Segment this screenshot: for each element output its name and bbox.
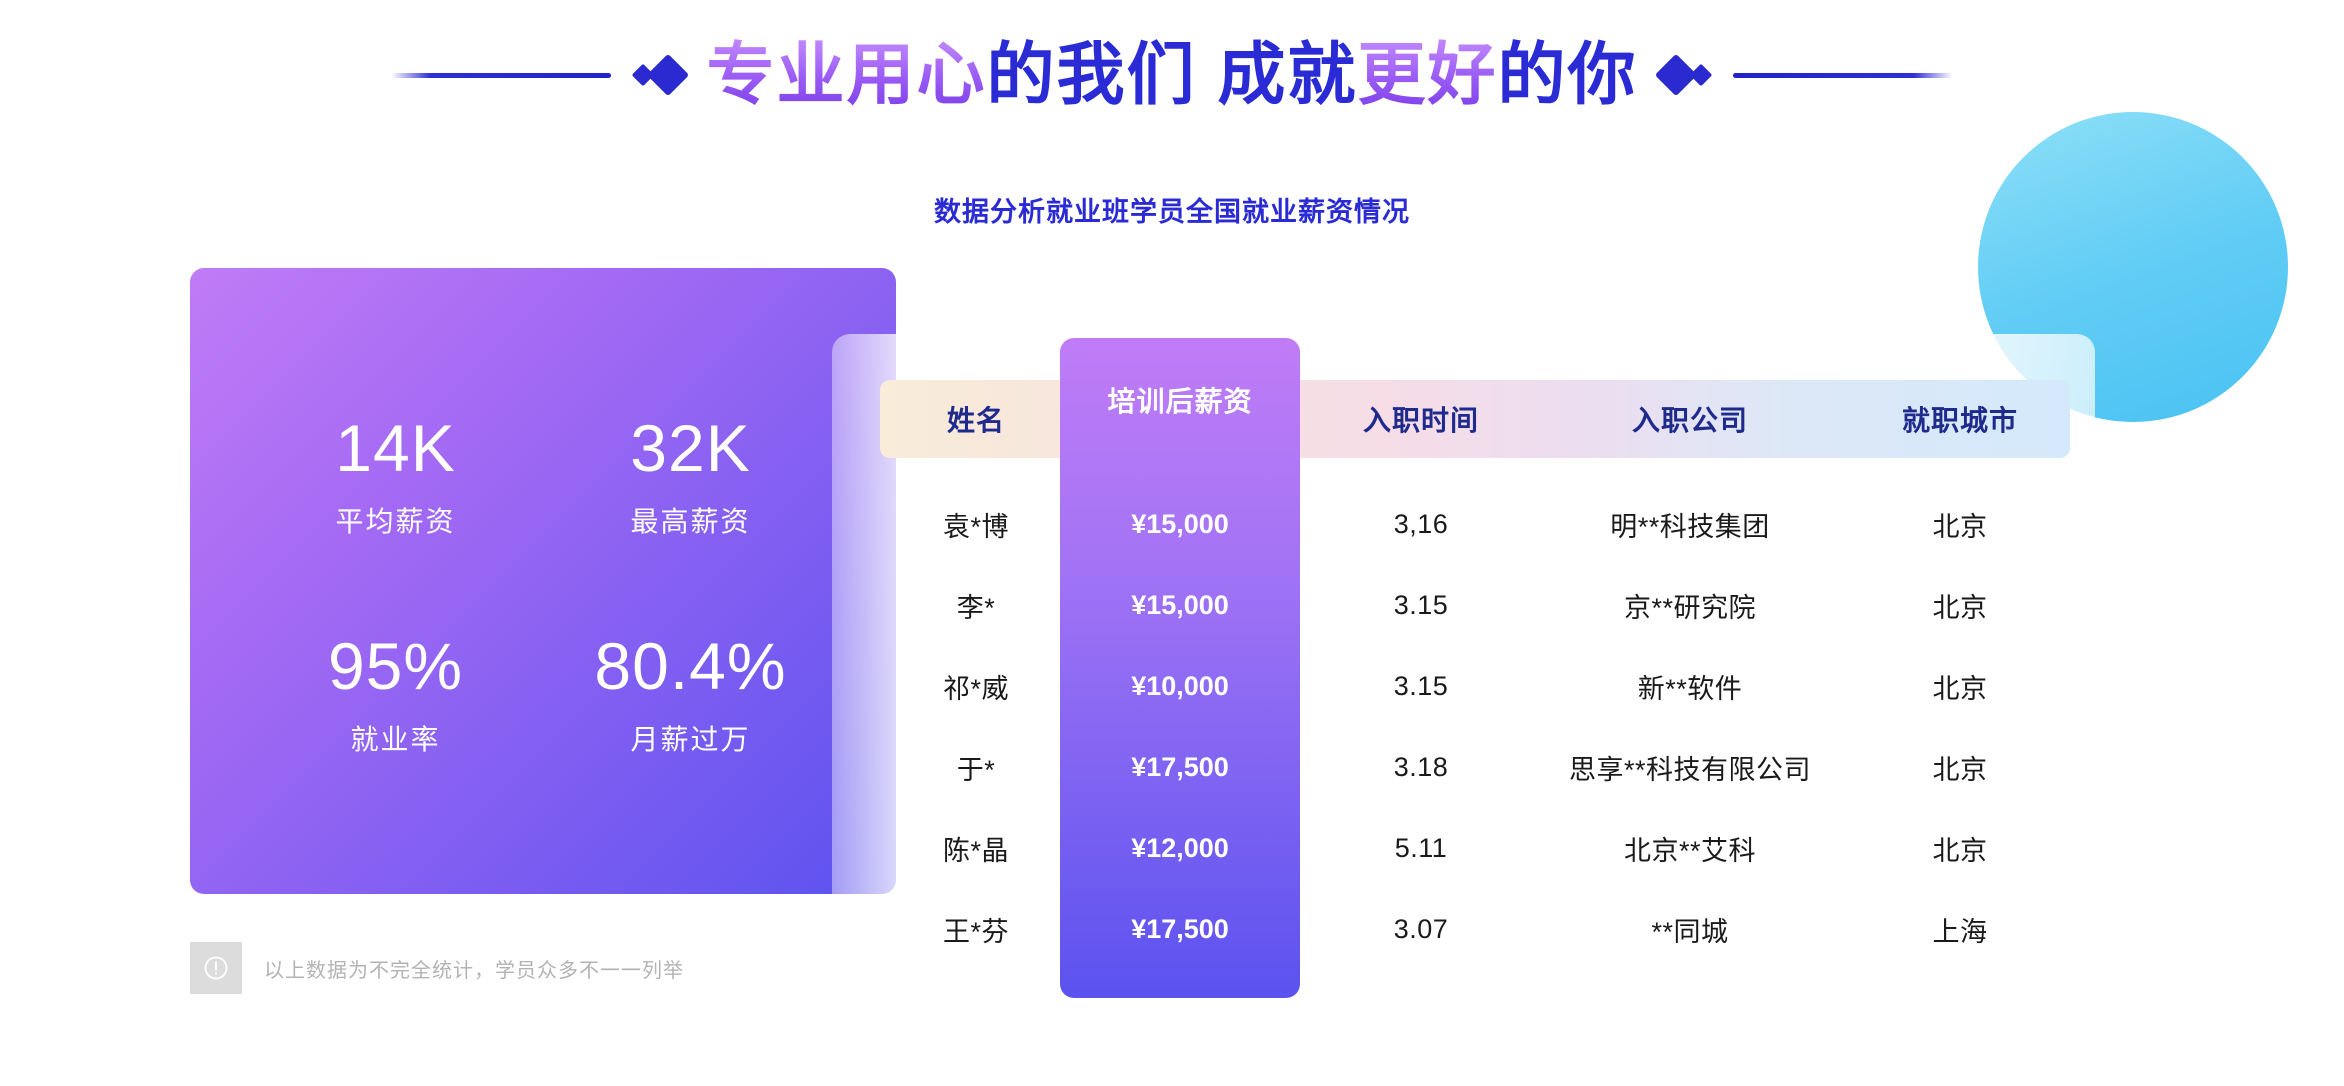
- cell-salary-overlay: ¥12,000: [1060, 808, 1300, 889]
- cell-name: 王*芬: [880, 910, 1072, 949]
- salary-values-overlay: ¥15,000 ¥15,000 ¥10,000 ¥17,500 ¥12,000 …: [1060, 484, 1300, 970]
- table-row: 于* ¥17,500 3.18 思享**科技有限公司 北京: [880, 727, 2070, 808]
- cell-city: 北京: [1850, 748, 2070, 787]
- table-row: 袁*博 ¥15,000 3,16 明**科技集团 北京: [880, 484, 2070, 565]
- table-row: 祁*威 ¥10,000 3.15 新**软件 北京: [880, 646, 2070, 727]
- cell-city: 北京: [1850, 667, 2070, 706]
- header-rule-left: [391, 73, 611, 78]
- cell-company: 京**研究院: [1530, 586, 1850, 625]
- title-segment-3: 的你: [1497, 37, 1637, 113]
- cell-date: 3.18: [1312, 752, 1530, 783]
- cell-date: 3.07: [1312, 914, 1530, 945]
- title-segment-1: 的我们 成就: [987, 37, 1358, 113]
- cell-company: **同城: [1530, 910, 1850, 949]
- double-diamond-icon-left: [635, 60, 683, 90]
- table-header-city: 就职城市: [1850, 399, 2070, 439]
- cell-company: 新**软件: [1530, 667, 1850, 706]
- table-body: 袁*博 ¥15,000 3,16 明**科技集团 北京 李* ¥15,000 3…: [880, 484, 2070, 970]
- table-header-name: 姓名: [880, 399, 1072, 439]
- cell-city: 北京: [1850, 505, 2070, 544]
- cell-name: 于*: [880, 748, 1072, 787]
- cell-company: 北京**艾科: [1530, 829, 1850, 868]
- footnote: 以上数据为不完全统计，学员众多不一一列举: [190, 942, 706, 994]
- cell-name: 李*: [880, 586, 1072, 625]
- table-header-date: 入职时间: [1312, 399, 1530, 439]
- stat-label: 最高薪资: [630, 500, 750, 540]
- cell-salary-overlay: ¥17,500: [1060, 889, 1300, 970]
- cell-salary-overlay: ¥10,000: [1060, 646, 1300, 727]
- table-row: 王*芬 ¥17,500 3.07 **同城 上海: [880, 889, 2070, 970]
- stat-value: 80.4%: [594, 632, 786, 701]
- stat-value: 14K: [335, 414, 455, 483]
- cell-date: 3.15: [1312, 671, 1530, 702]
- stat-item: 14K 平均薪资: [248, 368, 543, 586]
- stat-value: 32K: [630, 414, 750, 483]
- table-row: 李* ¥15,000 3.15 京**研究院 北京: [880, 565, 2070, 646]
- stat-value: 95%: [328, 632, 463, 701]
- title-segment-0: 专业用心: [707, 37, 987, 113]
- diamond-small-icon: [631, 64, 654, 87]
- cell-city: 上海: [1850, 910, 2070, 949]
- footnote-text: 以上数据为不完全统计，学员众多不一一列举: [242, 942, 706, 994]
- stat-label: 月薪过万: [630, 718, 750, 758]
- cell-date: 5.11: [1312, 833, 1530, 864]
- stats-card: 14K 平均薪资 32K 最高薪资 95% 就业率 80.4% 月薪过万: [190, 268, 896, 894]
- diamond-small-icon: [1690, 64, 1713, 87]
- page-header: 专业用心的我们 成就更好的你: [0, 0, 2344, 150]
- table-header-company: 入职公司: [1530, 399, 1850, 439]
- stat-label: 就业率: [350, 718, 440, 758]
- double-diamond-icon-right: [1661, 60, 1709, 90]
- cell-date: 3,16: [1312, 509, 1530, 540]
- table-row: 陈*晶 ¥12,000 5.11 北京**艾科 北京: [880, 808, 2070, 889]
- title-segment-2: 更好: [1357, 37, 1497, 113]
- cell-company: 思享**科技有限公司: [1530, 748, 1850, 787]
- stats-grid: 14K 平均薪资 32K 最高薪资 95% 就业率 80.4% 月薪过万: [190, 268, 896, 894]
- exclamation-circle-icon: [190, 942, 242, 994]
- stat-item: 32K 最高薪资: [543, 368, 838, 586]
- cell-city: 北京: [1850, 829, 2070, 868]
- cell-salary-overlay: ¥17,500: [1060, 727, 1300, 808]
- salary-table-card: 姓名 入职时间 入职公司 就职城市 袁*博 ¥15,000 3,16 明**科技…: [832, 334, 2095, 995]
- stat-item: 80.4% 月薪过万: [543, 586, 838, 804]
- header-rule-right: [1733, 73, 1953, 78]
- cell-salary-overlay: ¥15,000: [1060, 484, 1300, 565]
- cell-date: 3.15: [1312, 590, 1530, 621]
- page-title: 专业用心的我们 成就更好的你: [707, 41, 1638, 109]
- cell-name: 袁*博: [880, 505, 1072, 544]
- cell-company: 明**科技集团: [1530, 505, 1850, 544]
- cell-city: 北京: [1850, 586, 2070, 625]
- cell-name: 陈*晶: [880, 829, 1072, 868]
- stat-label: 平均薪资: [335, 500, 455, 540]
- cell-name: 祁*威: [880, 667, 1072, 706]
- cell-salary-overlay: ¥15,000: [1060, 565, 1300, 646]
- table-header-salary-overlay: 培训后薪资: [1060, 380, 1300, 420]
- table-header-row: 姓名 入职时间 入职公司 就职城市: [880, 380, 2070, 458]
- stat-item: 95% 就业率: [248, 586, 543, 804]
